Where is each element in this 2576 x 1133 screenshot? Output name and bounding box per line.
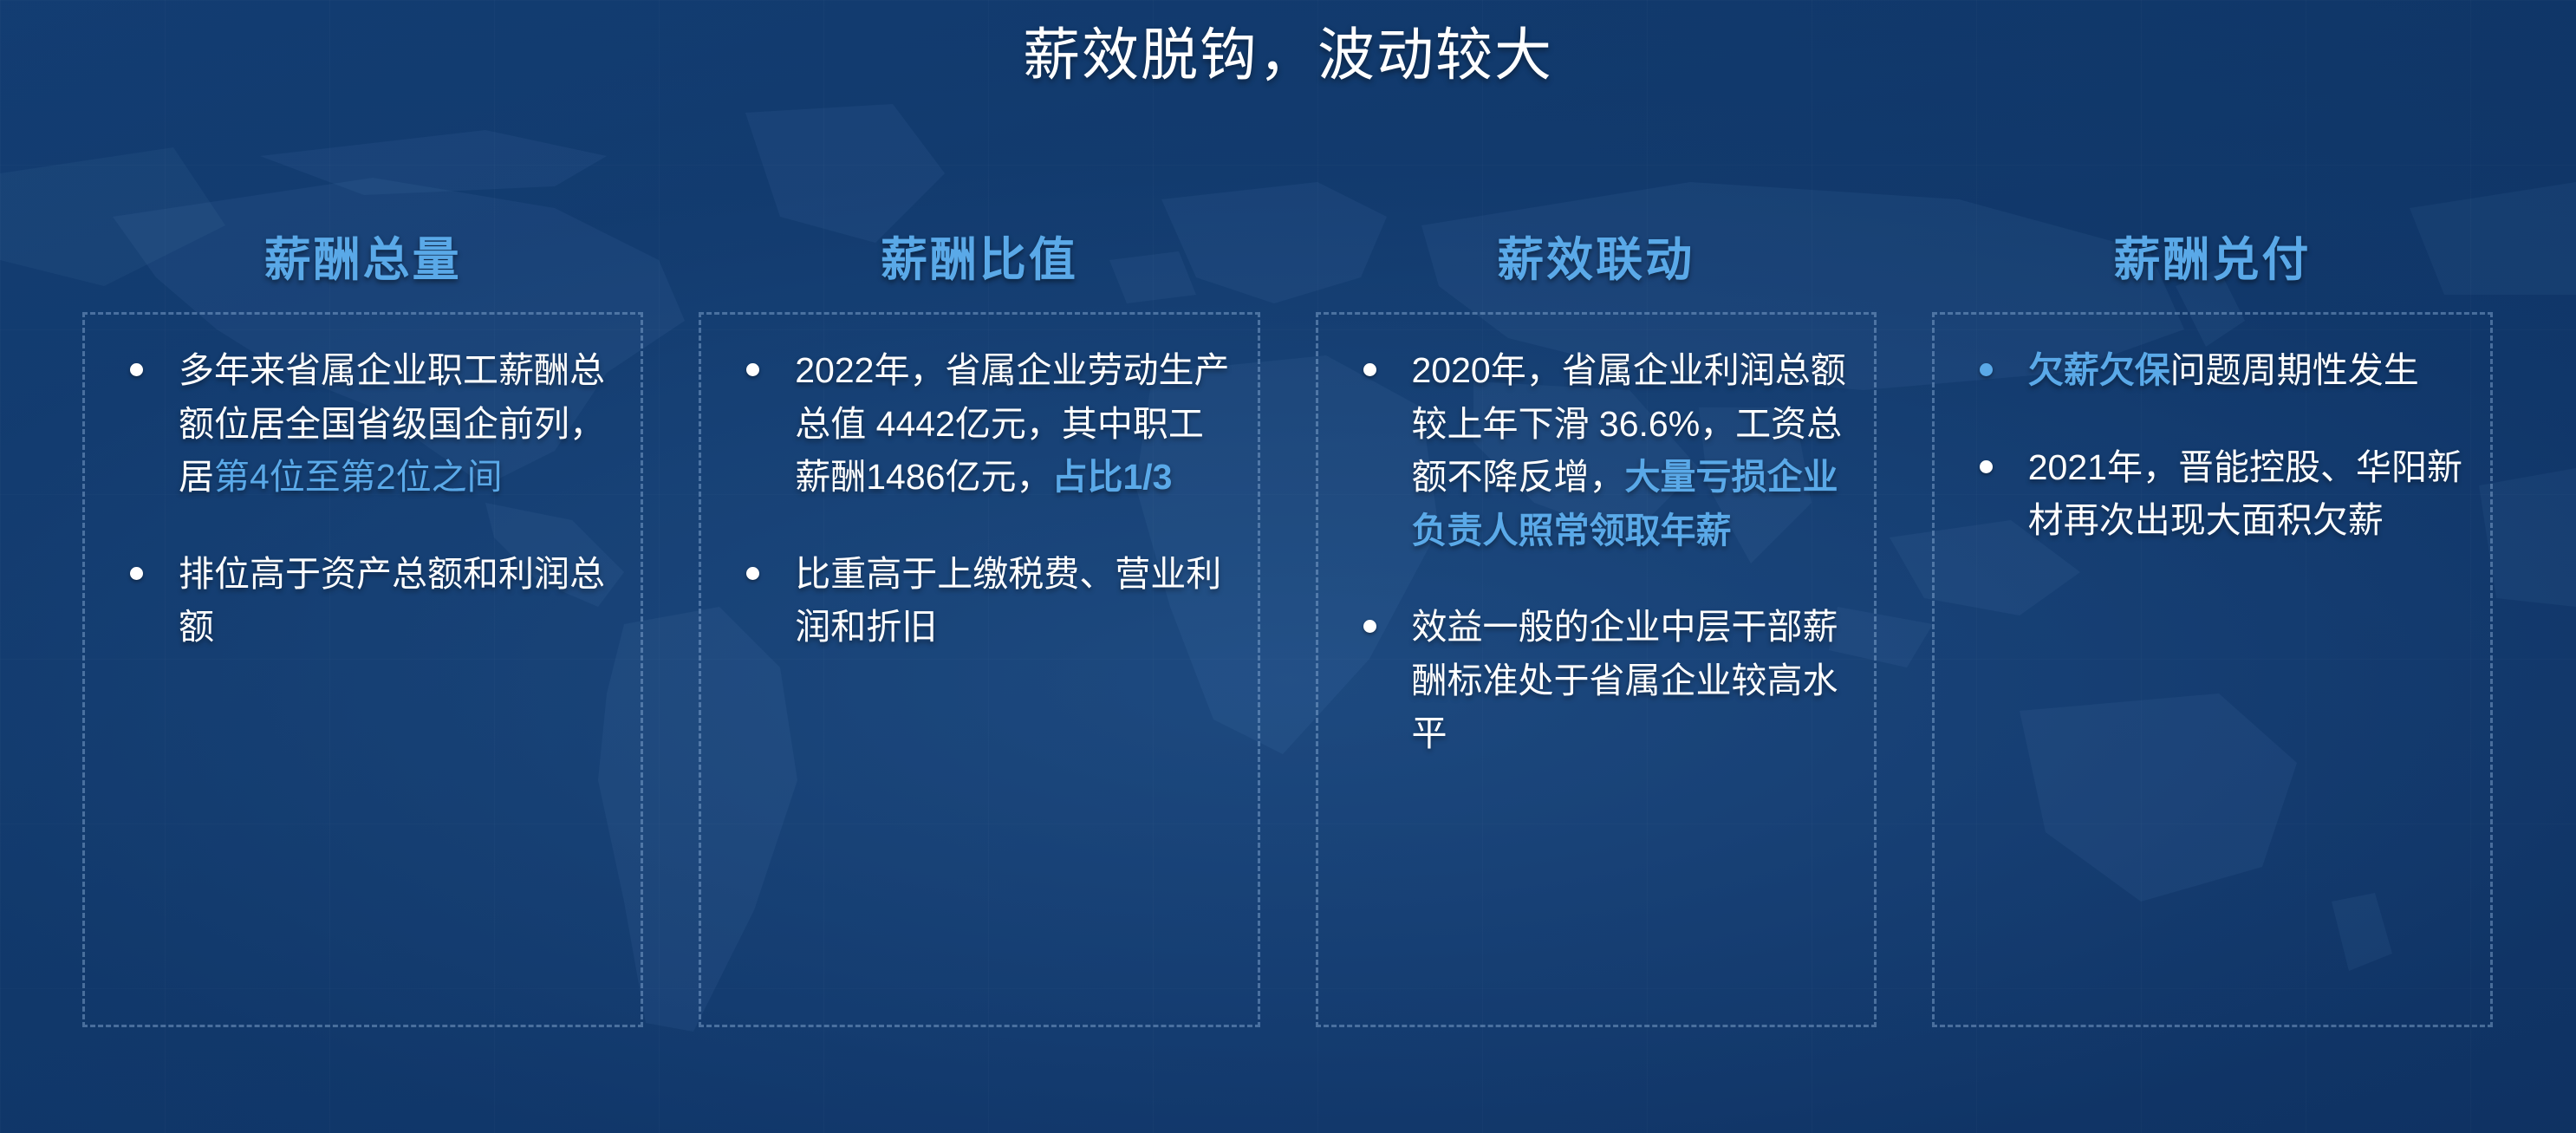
column-body-2: 2022年，省属企业劳动生产总值 4442亿元，其中职工薪酬1486亿元，占比1… bbox=[699, 312, 1259, 1027]
dot-bullet-icon bbox=[746, 567, 759, 580]
list-item: 效益一般的企业中层干部薪酬标准处于省属企业较高水平 bbox=[1341, 601, 1851, 761]
columns-container: 薪酬总量 多年来省属企业职工薪酬总额位居全国省级国企前列，居第4位至第2位之间 … bbox=[82, 221, 2493, 1027]
list-item: 欠薪欠保问题周期性发生 bbox=[1957, 344, 2468, 398]
list-item: 2022年，省属企业劳动生产总值 4442亿元，其中职工薪酬1486亿元，占比1… bbox=[724, 344, 1234, 505]
dot-bullet-icon bbox=[130, 363, 143, 376]
dot-bullet-icon bbox=[1363, 363, 1376, 376]
bullet-list-2: 2022年，省属企业劳动生产总值 4442亿元，其中职工薪酬1486亿元，占比1… bbox=[724, 344, 1234, 654]
dot-bullet-icon bbox=[1363, 620, 1376, 633]
bullet-list-1: 多年来省属企业职工薪酬总额位居全国省级国企前列，居第4位至第2位之间 排位高于资… bbox=[107, 344, 618, 654]
column-heading-3: 薪效联动 bbox=[1316, 221, 1877, 312]
column-heading-1: 薪酬总量 bbox=[82, 221, 643, 312]
list-item: 2021年，晋能控股、华阳新材再次出现大面积欠薪 bbox=[1957, 441, 2468, 548]
dot-bullet-icon bbox=[1980, 460, 1993, 473]
column-body-3: 2020年，省属企业利润总额较上年下滑 36.6%，工资总额不降反增，大量亏损企… bbox=[1316, 312, 1877, 1027]
column-heading-2: 薪酬比值 bbox=[699, 221, 1259, 312]
bullet-list-4: 欠薪欠保问题周期性发生 2021年，晋能控股、华阳新材再次出现大面积欠薪 bbox=[1957, 344, 2468, 548]
list-item: 排位高于资产总额和利润总额 bbox=[107, 548, 618, 654]
bullet-text-part: 2021年，晋能控股、华阳新材再次出现大面积欠薪 bbox=[2028, 447, 2462, 541]
bullet-highlight-part: 占比1/3 bbox=[1051, 457, 1172, 497]
dot-bullet-icon bbox=[1980, 363, 1993, 376]
bullet-highlight-part: 第4位至第2位之间 bbox=[214, 457, 503, 497]
slide-canvas: 薪效脱钩，波动较大 薪酬总量 多年来省属企业职工薪酬总额位居全国省级国企前列，居… bbox=[0, 0, 2576, 1133]
bullet-text-part: 问题周期性发生 bbox=[2170, 350, 2419, 390]
bullet-text-part: 排位高于资产总额和利润总额 bbox=[179, 554, 605, 648]
dot-bullet-icon bbox=[130, 567, 143, 580]
list-item: 2020年，省属企业利润总额较上年下滑 36.6%，工资总额不降反增，大量亏损企… bbox=[1341, 344, 1851, 557]
list-item: 多年来省属企业职工薪酬总额位居全国省级国企前列，居第4位至第2位之间 bbox=[107, 344, 618, 505]
column-salary-payment: 薪酬兑付 欠薪欠保问题周期性发生 2021年，晋能控股、华阳新材再次出现大面积欠… bbox=[1932, 221, 2493, 1027]
bullet-text-part: 比重高于上缴税费、营业利润和折旧 bbox=[795, 554, 1221, 648]
dot-bullet-icon bbox=[746, 363, 759, 376]
page-title: 薪效脱钩，波动较大 bbox=[0, 23, 2576, 88]
column-body-4: 欠薪欠保问题周期性发生 2021年，晋能控股、华阳新材再次出现大面积欠薪 bbox=[1932, 312, 2493, 1027]
bullet-list-3: 2020年，省属企业利润总额较上年下滑 36.6%，工资总额不降反增，大量亏损企… bbox=[1341, 344, 1851, 761]
list-item: 比重高于上缴税费、营业利润和折旧 bbox=[724, 548, 1234, 654]
column-salary-ratio: 薪酬比值 2022年，省属企业劳动生产总值 4442亿元，其中职工薪酬1486亿… bbox=[699, 221, 1259, 1027]
column-body-1: 多年来省属企业职工薪酬总额位居全国省级国企前列，居第4位至第2位之间 排位高于资… bbox=[82, 312, 643, 1027]
bullet-text-part: 效益一般的企业中层干部薪酬标准处于省属企业较高水平 bbox=[1412, 607, 1838, 753]
bullet-highlight-part: 欠薪欠保 bbox=[2028, 350, 2170, 390]
column-heading-4: 薪酬兑付 bbox=[1932, 221, 2493, 312]
column-salary-total: 薪酬总量 多年来省属企业职工薪酬总额位居全国省级国企前列，居第4位至第2位之间 … bbox=[82, 221, 643, 1027]
column-pay-performance-link: 薪效联动 2020年，省属企业利润总额较上年下滑 36.6%，工资总额不降反增，… bbox=[1316, 221, 1877, 1027]
